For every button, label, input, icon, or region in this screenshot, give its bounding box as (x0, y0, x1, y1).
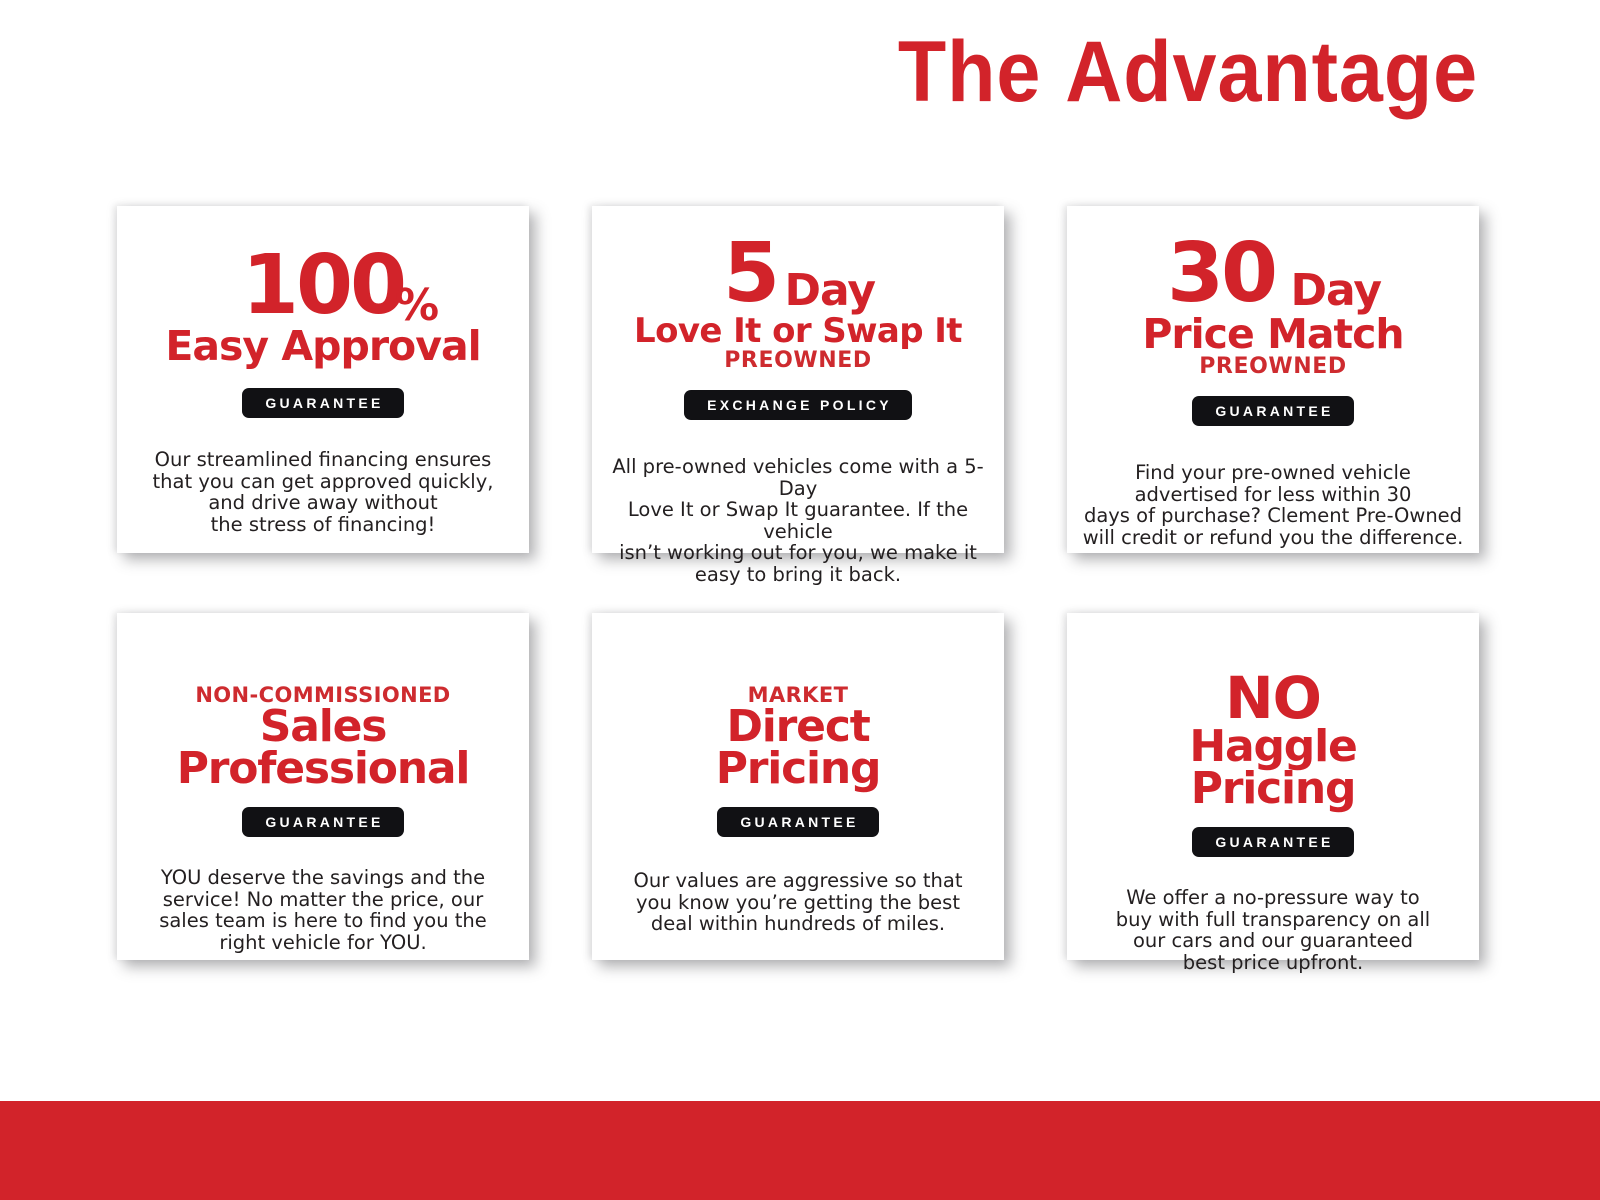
badge-wrap: GUARANTEE (242, 807, 403, 837)
card-body-text: All pre-owned vehicles come with a 5-Day… (606, 456, 990, 586)
badge-wrap: GUARANTEE (717, 807, 878, 837)
status-badge: GUARANTEE (1192, 827, 1353, 857)
hero-line: 30 Day (1081, 234, 1465, 314)
card-headline: Haggle (1081, 726, 1465, 768)
card-lockup: NON-COMMISSIONED Sales Professional (131, 684, 515, 790)
status-badge: GUARANTEE (717, 807, 878, 837)
status-badge: EXCHANGE POLICY (684, 390, 912, 420)
status-badge: GUARANTEE (242, 807, 403, 837)
card-headline: Sales (131, 706, 515, 748)
badge-wrap: EXCHANGE POLICY (684, 390, 912, 420)
card-body-text: YOU deserve the savings and the service!… (131, 867, 515, 953)
card-lockup: NO Haggle Pricing (1081, 670, 1465, 810)
card-lockup: 100 % Easy Approval (131, 246, 515, 367)
footer-red-bar (0, 1101, 1600, 1200)
hero-percent-symbol: % (395, 284, 438, 328)
badge-wrap: GUARANTEE (1192, 827, 1353, 857)
card-subcaps: PREOWNED (606, 349, 990, 373)
advantage-card-no-haggle-pricing[interactable]: NO Haggle Pricing GUARANTEE We offer a n… (1067, 613, 1479, 960)
card-body-text: We offer a no-pressure way to buy with f… (1081, 887, 1465, 973)
page-title-word-the: The (898, 24, 1041, 120)
card-lockup: MARKET Direct Pricing (606, 684, 990, 790)
badge-wrap: GUARANTEE (242, 388, 403, 418)
card-headline: Love It or Swap It (606, 314, 990, 349)
hero-numeral: 30 (1167, 226, 1275, 321)
card-headline-second-line: Pricing (1081, 768, 1465, 810)
hero-line: 100 % (131, 246, 515, 326)
advantage-card-sales-professional[interactable]: NON-COMMISSIONED Sales Professional GUAR… (117, 613, 529, 960)
card-lockup: 5 Day Love It or Swap It PREOWNED (606, 234, 990, 373)
advantage-card-easy-approval[interactable]: 100 % Easy Approval GUARANTEE Our stream… (117, 206, 529, 553)
advantage-page: TheAdvantage 100 % Easy Approval GUARANT… (0, 0, 1600, 1200)
hero-numeral-wrap: 5 Day (723, 234, 873, 314)
card-lockup: 30 Day Price Match PREOWNED (1081, 234, 1465, 379)
advantage-card-grid: 100 % Easy Approval GUARANTEE Our stream… (117, 206, 1479, 960)
page-title-word-advantage: Advantage (1065, 24, 1478, 120)
card-subcaps: PREOWNED (1081, 355, 1465, 379)
hero-day-label: Day (1291, 269, 1382, 313)
card-headline: Direct (606, 706, 990, 748)
status-badge: GUARANTEE (242, 388, 403, 418)
card-headline-second-line: Professional (131, 748, 515, 790)
advantage-card-love-it-or-swap-it[interactable]: 5 Day Love It or Swap It PREOWNED EXCHAN… (592, 206, 1004, 553)
card-body-text: Our streamlined financing ensures that y… (131, 449, 515, 535)
hero-numeral-wrap: 30 Day (1167, 234, 1379, 314)
status-badge: GUARANTEE (1192, 396, 1353, 426)
page-title: TheAdvantage (118, 26, 1478, 118)
advantage-card-market-direct-pricing[interactable]: MARKET Direct Pricing GUARANTEE Our valu… (592, 613, 1004, 960)
card-body-text: Our values are aggressive so that you kn… (606, 870, 990, 935)
hero-day-label: Day (784, 269, 875, 313)
hero-numeral: 100 (242, 238, 404, 333)
card-body-text: Find your pre-owned vehicle advertised f… (1081, 462, 1465, 548)
card-headline-second-line: Pricing (606, 748, 990, 790)
advantage-card-price-match[interactable]: 30 Day Price Match PREOWNED GUARANTEE Fi… (1067, 206, 1479, 553)
hero-numeral-wrap: 100 % (242, 246, 404, 326)
hero-word: NO (1081, 670, 1465, 726)
badge-wrap: GUARANTEE (1192, 396, 1353, 426)
hero-numeral: 5 (723, 226, 777, 321)
hero-line: 5 Day (606, 234, 990, 314)
